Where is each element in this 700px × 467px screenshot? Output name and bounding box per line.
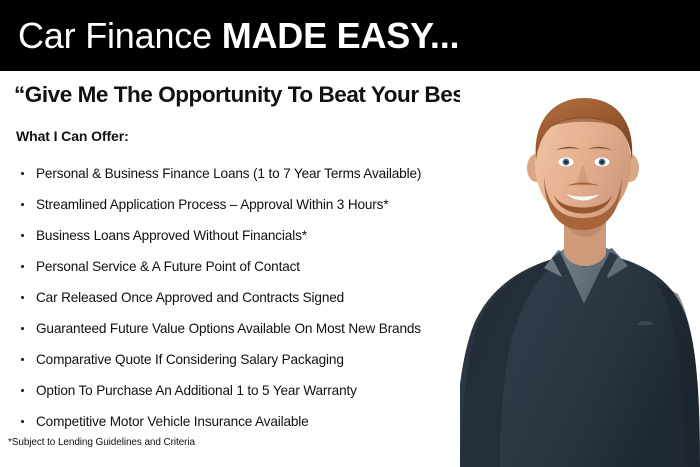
banner-title-light: Car Finance — [18, 15, 222, 56]
list-item: Personal Service & A Future Point of Con… — [16, 251, 516, 282]
list-item: Competitive Motor Vehicle Insurance Avai… — [16, 406, 516, 437]
list-item: Streamlined Application Process – Approv… — [16, 189, 516, 220]
list-item: Business Loans Approved Without Financia… — [16, 220, 516, 251]
bullet-dot-icon — [21, 327, 24, 330]
banner-title: Car Finance MADE EASY... — [0, 18, 459, 54]
list-item-label: Option To Purchase An Additional 1 to 5 … — [36, 383, 357, 398]
list-item: Guaranteed Future Value Options Availabl… — [16, 313, 516, 344]
advertisement-poster: Car Finance MADE EASY... “Give Me The Op… — [0, 0, 700, 467]
bullet-dot-icon — [21, 296, 24, 299]
list-item-label: Guaranteed Future Value Options Availabl… — [36, 321, 421, 336]
bullet-dot-icon — [21, 172, 24, 175]
list-item-label: Business Loans Approved Without Financia… — [36, 228, 307, 243]
list-item: Comparative Quote If Considering Salary … — [16, 344, 516, 375]
bullet-dot-icon — [21, 389, 24, 392]
bullet-dot-icon — [21, 420, 24, 423]
header-banner: Car Finance MADE EASY... — [0, 0, 700, 71]
list-item: Car Released Once Approved and Contracts… — [16, 282, 516, 313]
list-item-label: Competitive Motor Vehicle Insurance Avai… — [36, 414, 309, 429]
bullet-dot-icon — [21, 265, 24, 268]
disclaimer-text: *Subject to Lending Guidelines and Crite… — [8, 437, 195, 448]
list-item-label: Comparative Quote If Considering Salary … — [36, 352, 344, 367]
pupil-left — [564, 160, 567, 163]
list-item: Personal & Business Finance Loans (1 to … — [16, 158, 516, 189]
bullet-dot-icon — [21, 358, 24, 361]
list-item-label: Car Released Once Approved and Contracts… — [36, 290, 344, 305]
list-item-label: Personal Service & A Future Point of Con… — [36, 259, 300, 274]
bullet-dot-icon — [21, 203, 24, 206]
bullet-dot-icon — [21, 234, 24, 237]
offer-subheading: What I Can Offer: — [16, 128, 129, 144]
banner-title-bold: MADE EASY... — [222, 15, 460, 56]
offer-list: Personal & Business Finance Loans (1 to … — [16, 158, 516, 437]
list-item: Option To Purchase An Additional 1 to 5 … — [16, 375, 516, 406]
pupil-right — [600, 160, 603, 163]
list-item-label: Streamlined Application Process – Approv… — [36, 197, 388, 212]
list-item-label: Personal & Business Finance Loans (1 to … — [36, 166, 421, 181]
